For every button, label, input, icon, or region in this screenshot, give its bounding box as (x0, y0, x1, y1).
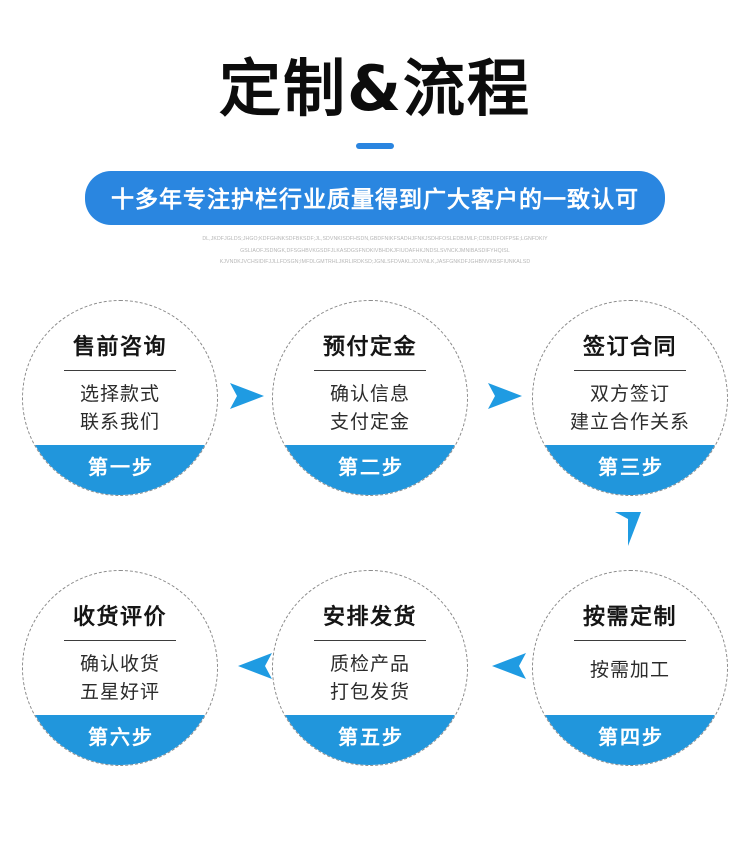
flow-step-node[interactable]: 预付定金 确认信息 支付定金 第二步 (272, 300, 468, 496)
flow-step-detail-line: 打包发货 (330, 679, 410, 707)
flow-step-divider (64, 370, 176, 371)
flow-step-divider (64, 640, 176, 641)
filler-text-block: DL,JKDFJGLDS;JHGO;KDFGHNKSDFBKSDF;JL,SDV… (0, 234, 750, 268)
flow-step-detail-line: 确认收货 (80, 651, 160, 679)
flow-step-divider (314, 370, 426, 371)
flow-step-title: 收货评价 (73, 607, 167, 629)
flow-step-node[interactable]: 收货评价 确认收货 五星好评 第六步 (22, 570, 218, 766)
flow-step-divider (314, 640, 426, 641)
flow-step-detail-line: 选择款式 (80, 381, 160, 409)
flow-step-number-label: 第六步 (22, 721, 218, 750)
flow-step-detail: 双方签订 建立合作关系 (570, 381, 690, 436)
title-underline-dash (356, 143, 394, 149)
flow-step-number-label: 第一步 (22, 451, 218, 480)
filler-text-line: DL,JKDFJGLDS;JHGO;KDFGHNKSDFBKSDF;JL,SDV… (0, 234, 750, 245)
flow-step-badge-band: 第二步 (272, 445, 468, 496)
flow-step-node[interactable]: 安排发货 质检产品 打包发货 第五步 (272, 570, 468, 766)
flow-step-node[interactable]: 按需定制 按需加工 第四步 (532, 570, 728, 766)
flow-step-detail-line: 联系我们 (80, 409, 160, 437)
page-title: 定制&流程 (0, 0, 750, 121)
flow-step-detail: 选择款式 联系我们 (80, 381, 160, 436)
flow-step-divider (574, 640, 686, 641)
flow-row-top: 售前咨询 选择款式 联系我们 第一步 预付定金 确认信息 支付定金 (0, 300, 750, 496)
flow-step-detail-line: 确认信息 (330, 381, 410, 409)
flow-step-detail: 确认收货 五星好评 (80, 651, 160, 706)
arrow-right-icon (486, 380, 524, 412)
flow-step-node[interactable]: 售前咨询 选择款式 联系我们 第一步 (22, 300, 218, 496)
flow-step-detail-line: 支付定金 (330, 409, 410, 437)
flow-step-detail-line: 双方签订 (570, 381, 690, 409)
flow-step-node[interactable]: 签订合同 双方签订 建立合作关系 第三步 (532, 300, 728, 496)
arrow-down-icon (612, 510, 644, 548)
flow-step-detail: 按需加工 (590, 657, 670, 685)
flow-step-badge-band: 第一步 (22, 445, 218, 496)
arrow-left-icon (236, 650, 274, 682)
flow-step-title: 签订合同 (583, 337, 677, 359)
flow-step-number-label: 第三步 (532, 451, 728, 480)
arrow-right-icon (228, 380, 266, 412)
flow-step-title: 预付定金 (323, 337, 417, 359)
flow-step-detail-line: 建立合作关系 (570, 409, 690, 437)
flow-step-detail: 确认信息 支付定金 (330, 381, 410, 436)
flow-step-badge-band: 第五步 (272, 715, 468, 766)
flow-step-number-label: 第二步 (272, 451, 468, 480)
flow-step-number-label: 第四步 (532, 721, 728, 750)
flow-step-badge-band: 第六步 (22, 715, 218, 766)
filler-text-line: GSLIAOFJSDNGK,DFSGHBVKGSDFJLKASDGSFNOKIV… (0, 246, 750, 257)
flow-step-detail-line: 质检产品 (330, 651, 410, 679)
flow-step-badge-band: 第三步 (532, 445, 728, 496)
subtitle-badge: 十多年专注护栏行业质量得到广大客户的一致认可 (85, 171, 665, 225)
flow-step-badge-band: 第四步 (532, 715, 728, 766)
page-header: 定制&流程 十多年专注护栏行业质量得到广大客户的一致认可 DL,JKDFJGLD… (0, 0, 750, 268)
arrow-left-icon (490, 650, 528, 682)
flow-row-bottom: 收货评价 确认收货 五星好评 第六步 安排发货 质检产品 打包发货 (0, 570, 750, 766)
flow-step-detail-line: 五星好评 (80, 679, 160, 707)
process-flow-diagram: 售前咨询 选择款式 联系我们 第一步 预付定金 确认信息 支付定金 (0, 300, 750, 840)
subtitle-pill-wrapper: 十多年专注护栏行业质量得到广大客户的一致认可 (0, 171, 750, 225)
flow-step-title: 售前咨询 (73, 337, 167, 359)
flow-step-divider (574, 370, 686, 371)
flow-step-number-label: 第五步 (272, 721, 468, 750)
flow-step-title: 安排发货 (323, 607, 417, 629)
flow-step-detail: 质检产品 打包发货 (330, 651, 410, 706)
flow-step-detail-line: 按需加工 (590, 657, 670, 685)
filler-text-line: KJVNDKJVCHSIDIFJJLLFDSGN;IMFDLGMTRHLJKRL… (0, 257, 750, 268)
flow-step-title: 按需定制 (583, 607, 677, 629)
